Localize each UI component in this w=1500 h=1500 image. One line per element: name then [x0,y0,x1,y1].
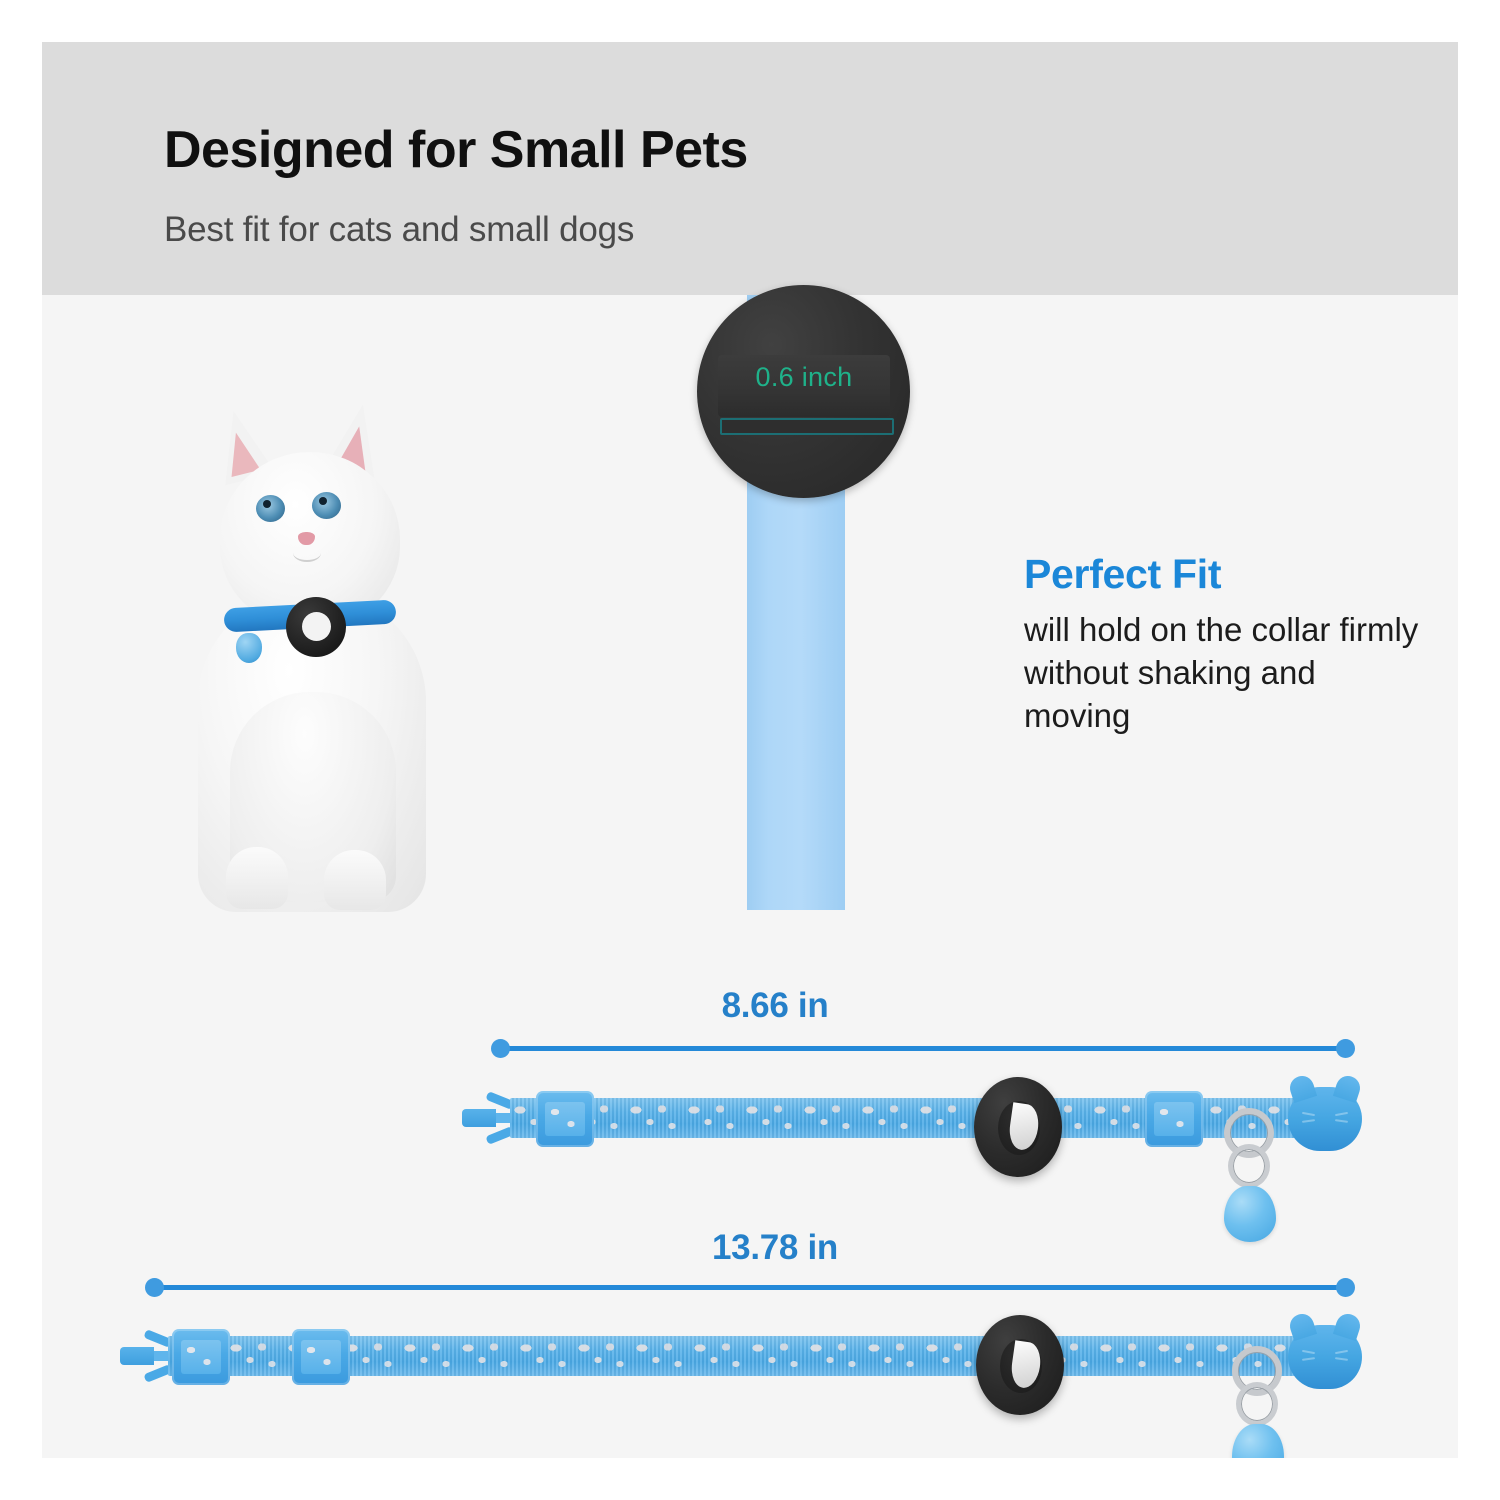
collar-small-strap [510,1098,1330,1138]
slot-measurement-label: 0.6 inch [718,362,890,393]
collar-large-cat-clasp [1288,1325,1362,1389]
buckle-window [301,1340,341,1374]
prong-stem [462,1109,496,1127]
cat-mouth [293,544,321,562]
measurement-line-small [500,1046,1345,1051]
collar-large-prong [120,1334,172,1378]
cat-worn-bell [236,633,262,663]
buckle-window [545,1102,585,1136]
buckle-window [1154,1102,1194,1136]
collar-small-prong [462,1096,514,1140]
buckle-window [181,1340,221,1374]
page-subtitle: Best fit for cats and small dogs [164,210,634,250]
perfect-fit-heading: Perfect Fit [1024,551,1221,598]
cat-eye-right [312,492,341,519]
clasp-face-emboss [1302,1109,1348,1131]
prong-stem [120,1347,154,1365]
collar-large [120,1320,1364,1390]
measurement-dot-small-left [491,1039,510,1058]
measurement-dot-large-left [145,1278,164,1297]
collar-large-airtag-holder [976,1315,1064,1415]
slot-measurement-bracket [720,418,894,435]
cat-paw-right [324,850,386,910]
collar-small-bell-ring [1228,1144,1270,1188]
cat-paw-left [226,847,288,909]
measurement-dot-large-right [1336,1278,1355,1297]
collar-small [462,1082,1362,1152]
collar-small-end-buckle [536,1091,594,1147]
cat-photo [172,392,452,912]
page-title: Designed for Small Pets [164,120,748,180]
cat-eye-left [256,495,285,522]
collar-large-bell-ring [1236,1382,1278,1426]
collar-small-slider-buckle [1145,1091,1203,1147]
perfect-fit-body: will hold on the collar firmly without s… [1024,608,1424,738]
cat-worn-airtag-holder [286,597,346,657]
measurement-dot-small-right [1336,1039,1355,1058]
measurement-line-large [154,1285,1345,1290]
collar-small-bell [1224,1186,1276,1242]
clasp-face-emboss [1302,1347,1348,1369]
collar-large-slider-buckle [292,1329,350,1385]
measurement-label-small: 8.66 in [625,986,925,1026]
measurement-label-large: 13.78 in [625,1228,925,1268]
infographic-stage: Designed for Small Pets Best fit for cat… [0,0,1500,1500]
collar-large-bell [1232,1424,1284,1458]
product-infographic-card: Designed for Small Pets Best fit for cat… [42,42,1458,1458]
collar-small-airtag-holder [974,1077,1062,1177]
collar-small-cat-clasp [1288,1087,1362,1151]
collar-large-end-buckle [172,1329,230,1385]
